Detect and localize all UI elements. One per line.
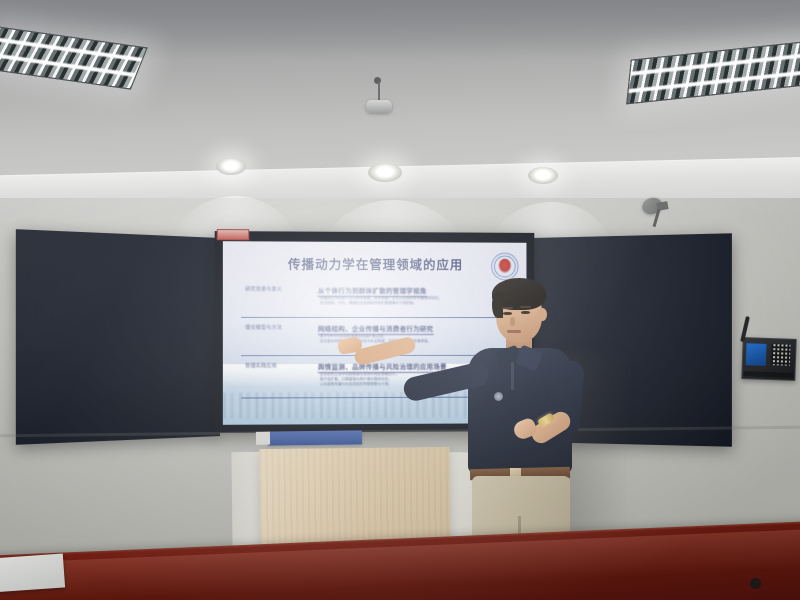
slide-row-label: 研究背景与意义 [245,286,308,293]
wall-wireless-device[interactable] [741,337,796,381]
blackboard-left [16,229,220,445]
slide-row-label: 管理实践应用 [245,362,308,369]
desk-knob-icon [750,578,761,589]
downlight-2-icon [368,163,402,182]
blue-banner-strip [268,430,362,445]
projector-rod [378,82,380,102]
lecture-hall-scene: 传播动力学在管理领域的应用 研究背景与意义 从个体行为到群体扩散的管理学视角 传… [0,0,800,600]
device-base [743,371,793,378]
presenter-eyebrow [520,306,531,308]
presenter-hair-side [492,292,503,318]
presenter-ear [538,308,547,321]
slide-row-label: 理论模型与方法 [245,324,308,331]
wall-speaker-icon [642,198,668,224]
presenter-eye [521,311,530,314]
ceiling-projector-icon [366,100,392,113]
presenter-nose [510,317,515,326]
board-sheen [16,229,220,445]
downlight-3-icon [528,167,558,184]
screen-corner-sticker [217,229,249,240]
presenter-mouth [507,330,521,333]
presenter-eyebrow [502,307,513,309]
qr-code-icon [771,344,791,366]
device-screen [746,343,767,366]
shirt-logo-icon [494,392,503,401]
downlight-1-icon [216,158,246,175]
desk-paper-sheet [0,553,65,592]
presenter-placket [511,362,514,390]
presenter-eye [503,312,512,315]
